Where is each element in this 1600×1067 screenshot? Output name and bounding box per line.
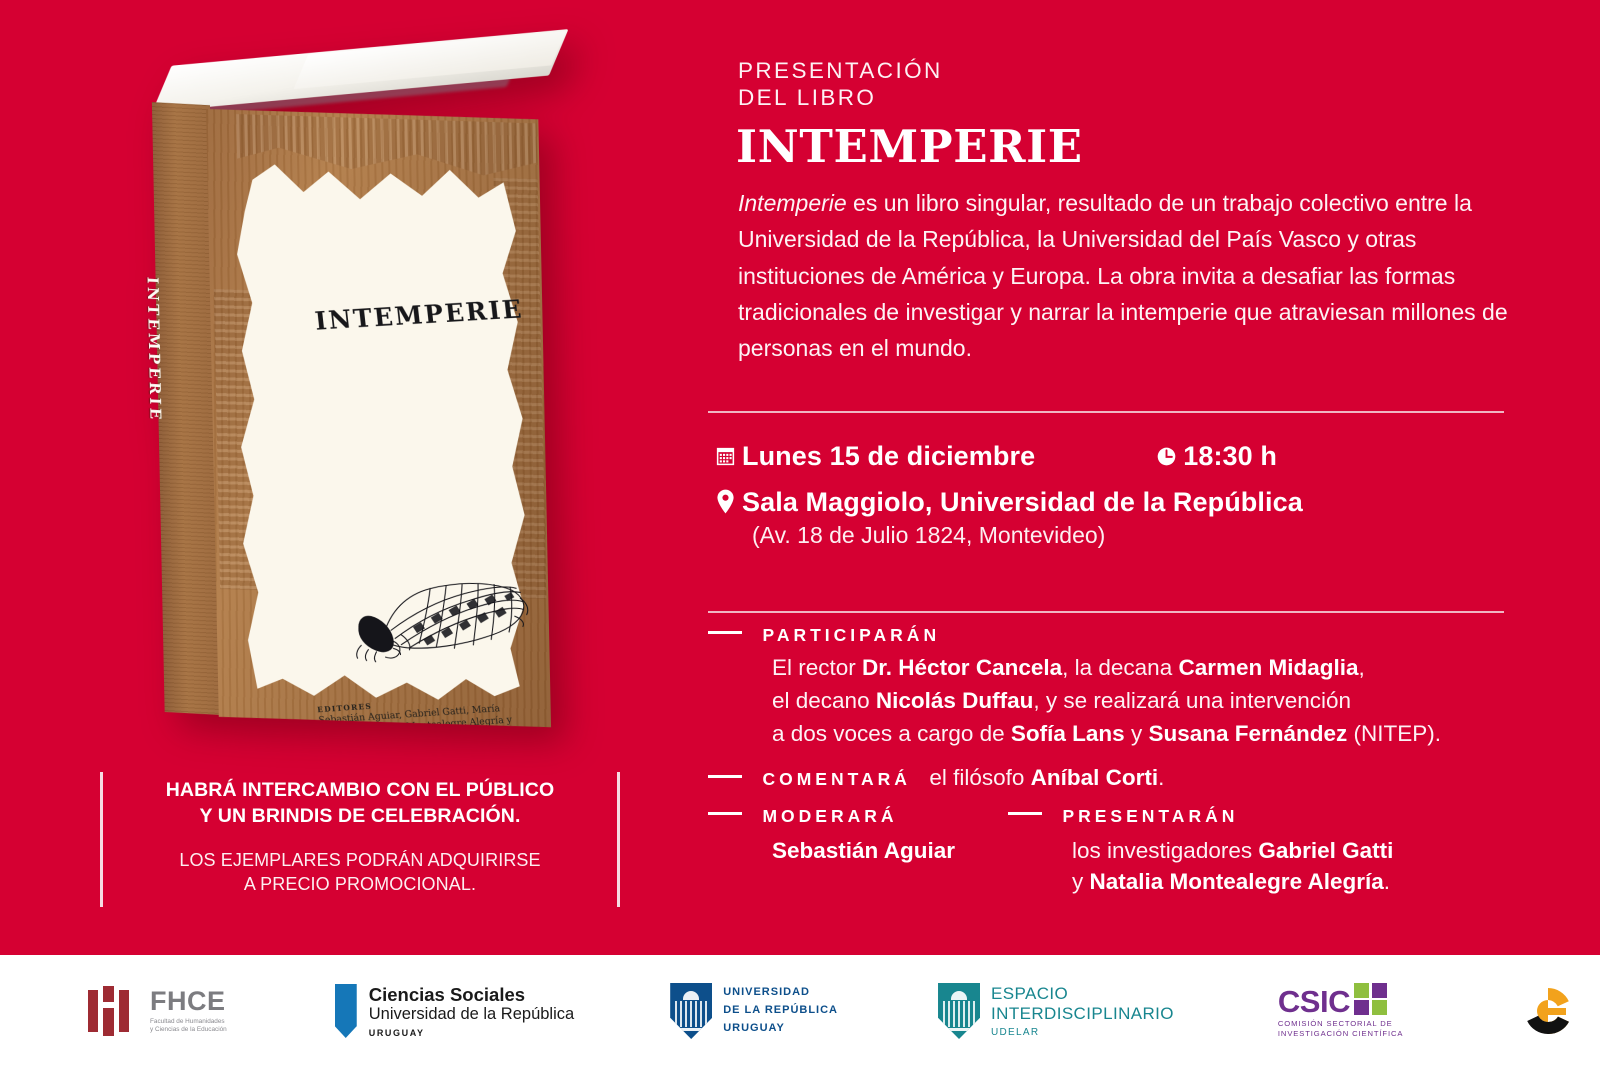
note-rule-right	[617, 772, 620, 907]
book-blurb: Intemperie es un libro singular, resulta…	[738, 185, 1518, 367]
udelar-shield-icon	[670, 983, 712, 1039]
book-front-cover: INTEMPERIE	[206, 109, 551, 727]
participaran-heading: PARTICIPARÁN	[708, 625, 1518, 646]
divider-rule-bottom	[708, 611, 1504, 613]
event-date: Lunes 15 de diciembre	[742, 441, 1035, 472]
fhce-logo: FHCE Facultad de Humanidades y Ciencias …	[88, 955, 227, 1067]
cardboard-corrugation-top	[236, 114, 537, 179]
name-susana-fernandez: Susana Fernández	[1148, 721, 1347, 746]
presentaran-heading: PRESENTARÁN	[1008, 806, 1478, 827]
udelar-line-3: URUGUAY	[723, 1020, 838, 1038]
fcs-line-1: Ciencias Sociales	[369, 984, 574, 1005]
fcs-wordmark: Ciencias Sociales Universidad de la Repú…	[369, 984, 574, 1038]
moderara-label: MODERARÁ	[762, 806, 897, 826]
event-details-column: PRESENTACIÓN DEL LIBRO INTEMPERIE Intemp…	[700, 0, 1540, 955]
csic-acronym: CSIC	[1278, 989, 1350, 1015]
note-text-wrapper: HABRÁ INTERCAMBIO CON EL PÚBLICO Y UN BR…	[103, 772, 617, 907]
note-strong-line1: HABRÁ INTERCAMBIO CON EL PÚBLICO	[121, 778, 599, 804]
note-soft-line1: LOS EJEMPLARES PODRÁN ADQUIRIRSE	[121, 849, 599, 873]
book-spine-title: INTEMPERIE	[144, 276, 168, 577]
extension-e-icon	[1521, 984, 1575, 1038]
blurb-italic-lead: Intemperie	[738, 190, 847, 216]
fhce-acronym: FHCE	[150, 988, 227, 1015]
book-mockup: INTEMPERIE INTEMPERIE	[143, 58, 557, 726]
divider-rule-top	[708, 411, 1504, 413]
fcs-shape-icon	[335, 984, 357, 1038]
extension-e-logo	[1521, 955, 1575, 1067]
dash-icon	[1008, 812, 1042, 815]
date-time-row: Lunes 15 de diciembre 18:30 h	[708, 440, 1508, 472]
name-sebastian-aguiar: Sebastián Aguiar	[772, 835, 1008, 867]
credits-two-column: MODERARÁ Sebastián Aguiar PRESENTARÁN lo…	[708, 806, 1518, 899]
event-address: (Av. 18 de Julio 1824, Montevideo)	[752, 522, 1508, 549]
participaran-line-1: El rector Dr. Héctor Cancela, la decana …	[772, 652, 1518, 685]
location-pin-icon	[708, 489, 742, 515]
dash-icon	[708, 812, 742, 815]
note-strong-text: HABRÁ INTERCAMBIO CON EL PÚBLICO Y UN BR…	[121, 778, 599, 830]
participaran-label: PARTICIPARÁN	[762, 625, 940, 645]
participaran-line-2: el decano Nicolás Duffau, y se realizará…	[772, 685, 1518, 718]
credit-group-participaran: PARTICIPARÁN El rector Dr. Héctor Cancel…	[708, 625, 1518, 751]
fhce-wordmark: FHCE Facultad de Humanidades y Ciencias …	[150, 988, 227, 1034]
when-where-block: Lunes 15 de diciembre 18:30 h	[708, 440, 1508, 549]
comentara-label: COMENTARÁ	[762, 769, 910, 789]
presentaran-names: los investigadores Gabriel Gatti y Natal…	[1072, 835, 1478, 899]
fhce-sub-2: y Ciencias de la Educación	[150, 1026, 227, 1033]
presentaran-line-1: los investigadores Gabriel Gatti	[1072, 835, 1478, 867]
fcs-line-3: URUGUAY	[369, 1028, 574, 1038]
name-anibal-corti: Aníbal Corti	[1031, 765, 1159, 790]
note-soft-line2: A PRECIO PROMOCIONAL.	[121, 873, 599, 897]
presentaran-label: PRESENTARÁN	[1062, 806, 1238, 826]
reclining-figure-ink-drawing	[333, 553, 545, 670]
csic-sub-1: COMISIÓN SECTORIAL DE	[1278, 1019, 1393, 1028]
udelar-line-1: UNIVERSIDAD	[723, 984, 838, 1002]
page-title: INTEMPERIE	[736, 120, 1083, 173]
ei-line-3: UDELAR	[991, 1027, 1174, 1038]
credits-block: PARTICIPARÁN El rector Dr. Héctor Cancel…	[708, 625, 1518, 898]
note-strong-line2: Y UN BRINDIS DE CELEBRACIÓN.	[121, 804, 599, 830]
presentaran-line-2: y Natalia Montealegre Alegría.	[1072, 866, 1478, 898]
kicker-line-1: PRESENTACIÓN	[738, 58, 943, 85]
note-soft-text: LOS EJEMPLARES PODRÁN ADQUIRIRSE A PRECI…	[121, 849, 599, 897]
csic-sub-2: INVESTIGACIÓN CIENTÍFICA	[1278, 1029, 1403, 1038]
credit-group-presentaran: PRESENTARÁN los investigadores Gabriel G…	[1008, 806, 1478, 899]
fcs-line-2: Universidad de la República	[369, 1005, 574, 1025]
name-gabriel-gatti: Gabriel Gatti	[1258, 838, 1393, 863]
clock-icon	[1149, 443, 1183, 469]
csic-logo: CSIC COMISIÓN SECTORIAL DE INVESTIGACIÓN…	[1278, 955, 1403, 1067]
name-carmen-midaglia: Carmen Midaglia	[1178, 655, 1358, 680]
participaran-line-3: a dos voces a cargo de Sofía Lans y Susa…	[772, 718, 1518, 751]
ei-shield-icon	[938, 983, 980, 1039]
udelar-wordmark: UNIVERSIDAD DE LA REPÚBLICA URUGUAY	[723, 984, 838, 1037]
time-group: 18:30 h	[1149, 440, 1277, 472]
name-nicolas-duffau: Nicolás Duffau	[876, 688, 1034, 713]
ei-line-2: INTERDISCIPLINARIO	[991, 1004, 1174, 1024]
poster-canvas: INTEMPERIE INTEMPERIE	[0, 0, 1600, 1067]
udelar-logo: UNIVERSIDAD DE LA REPÚBLICA URUGUAY	[670, 955, 838, 1067]
kicker-text: PRESENTACIÓN DEL LIBRO	[738, 58, 943, 111]
event-venue: Sala Maggiolo, Universidad de la Repúbli…	[742, 487, 1303, 518]
sponsor-footer: FHCE Facultad de Humanidades y Ciencias …	[0, 955, 1600, 1067]
audience-note-block: HABRÁ INTERCAMBIO CON EL PÚBLICO Y UN BR…	[100, 772, 620, 907]
kicker-line-2: DEL LIBRO	[738, 85, 943, 112]
ei-wordmark: ESPACIO INTERDISCIPLINARIO UDELAR	[991, 984, 1174, 1038]
moderara-heading: MODERARÁ	[708, 806, 1008, 827]
ei-line-1: ESPACIO	[991, 984, 1174, 1004]
csic-squares-icon	[1354, 983, 1388, 1015]
dash-icon	[708, 631, 742, 634]
espacio-interdisciplinario-logo: ESPACIO INTERDISCIPLINARIO UDELAR	[938, 955, 1174, 1067]
udelar-line-2: DE LA REPÚBLICA	[723, 1002, 838, 1020]
participaran-body: El rector Dr. Héctor Cancela, la decana …	[772, 652, 1518, 751]
fhce-mark-icon	[88, 986, 140, 1036]
calendar-icon	[708, 443, 742, 469]
name-hector-cancela: Dr. Héctor Cancela	[862, 655, 1062, 680]
ciencias-sociales-logo: Ciencias Sociales Universidad de la Repú…	[335, 955, 574, 1067]
comentara-body: el filósofo Aníbal Corti.	[929, 765, 1164, 790]
dash-icon	[708, 775, 742, 778]
csic-wordmark: CSIC COMISIÓN SECTORIAL DE INVESTIGACIÓN…	[1278, 983, 1403, 1039]
blurb-body: es un libro singular, resultado de un tr…	[738, 190, 1508, 361]
fhce-sub-1: Facultad de Humanidades	[150, 1018, 225, 1025]
credit-group-moderara: MODERARÁ Sebastián Aguiar	[708, 806, 1008, 899]
event-time: 18:30 h	[1183, 441, 1277, 472]
venue-row: Sala Maggiolo, Universidad de la Repúbli…	[708, 486, 1508, 519]
name-natalia-montealegre: Natalia Montealegre Alegría	[1090, 869, 1384, 894]
name-sofia-lans: Sofía Lans	[1011, 721, 1125, 746]
credit-group-comentara: COMENTARÁ el filósofo Aníbal Corti.	[708, 765, 1518, 791]
